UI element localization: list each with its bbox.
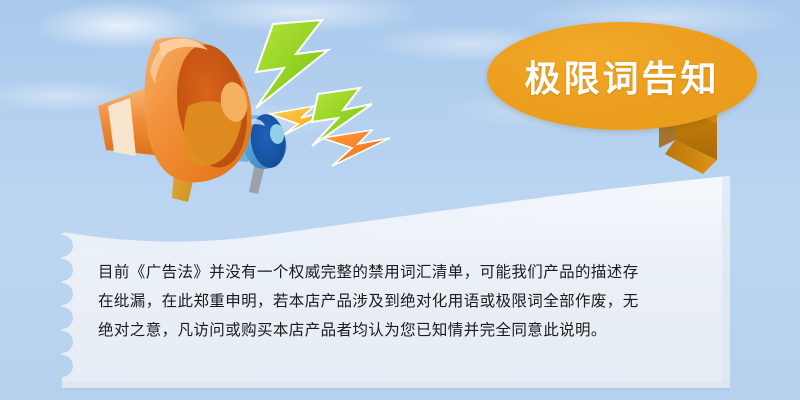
megaphone-illustration <box>60 10 400 210</box>
promo-banner: 极限词告知 目前《广告法》并没有一个权威完整的禁用词汇清单，可能我们产品的描述存… <box>0 0 800 400</box>
lightning-orange-icon <box>322 130 390 166</box>
notice-line-1: 目前《广告法》并没有一个权威完整的禁用词汇清单，可能我们产品的描述存 <box>98 258 730 287</box>
title-badge: 极限词告知 <box>487 22 757 132</box>
notice-text: 目前《广告法》并没有一个权威完整的禁用词汇清单，可能我们产品的描述存 在纰漏，在… <box>98 258 730 345</box>
notice-line-2: 在纰漏，在此郑重申明，若本店产品涉及到绝对化用语或极限词全部作废，无 <box>98 287 730 316</box>
megaphone-orange-icon <box>98 37 255 202</box>
notice-line-3: 绝对之意，凡访问或购买本店产品者均认为您已知情并完全同意此说明。 <box>98 316 730 345</box>
page-title: 极限词告知 <box>487 22 757 130</box>
